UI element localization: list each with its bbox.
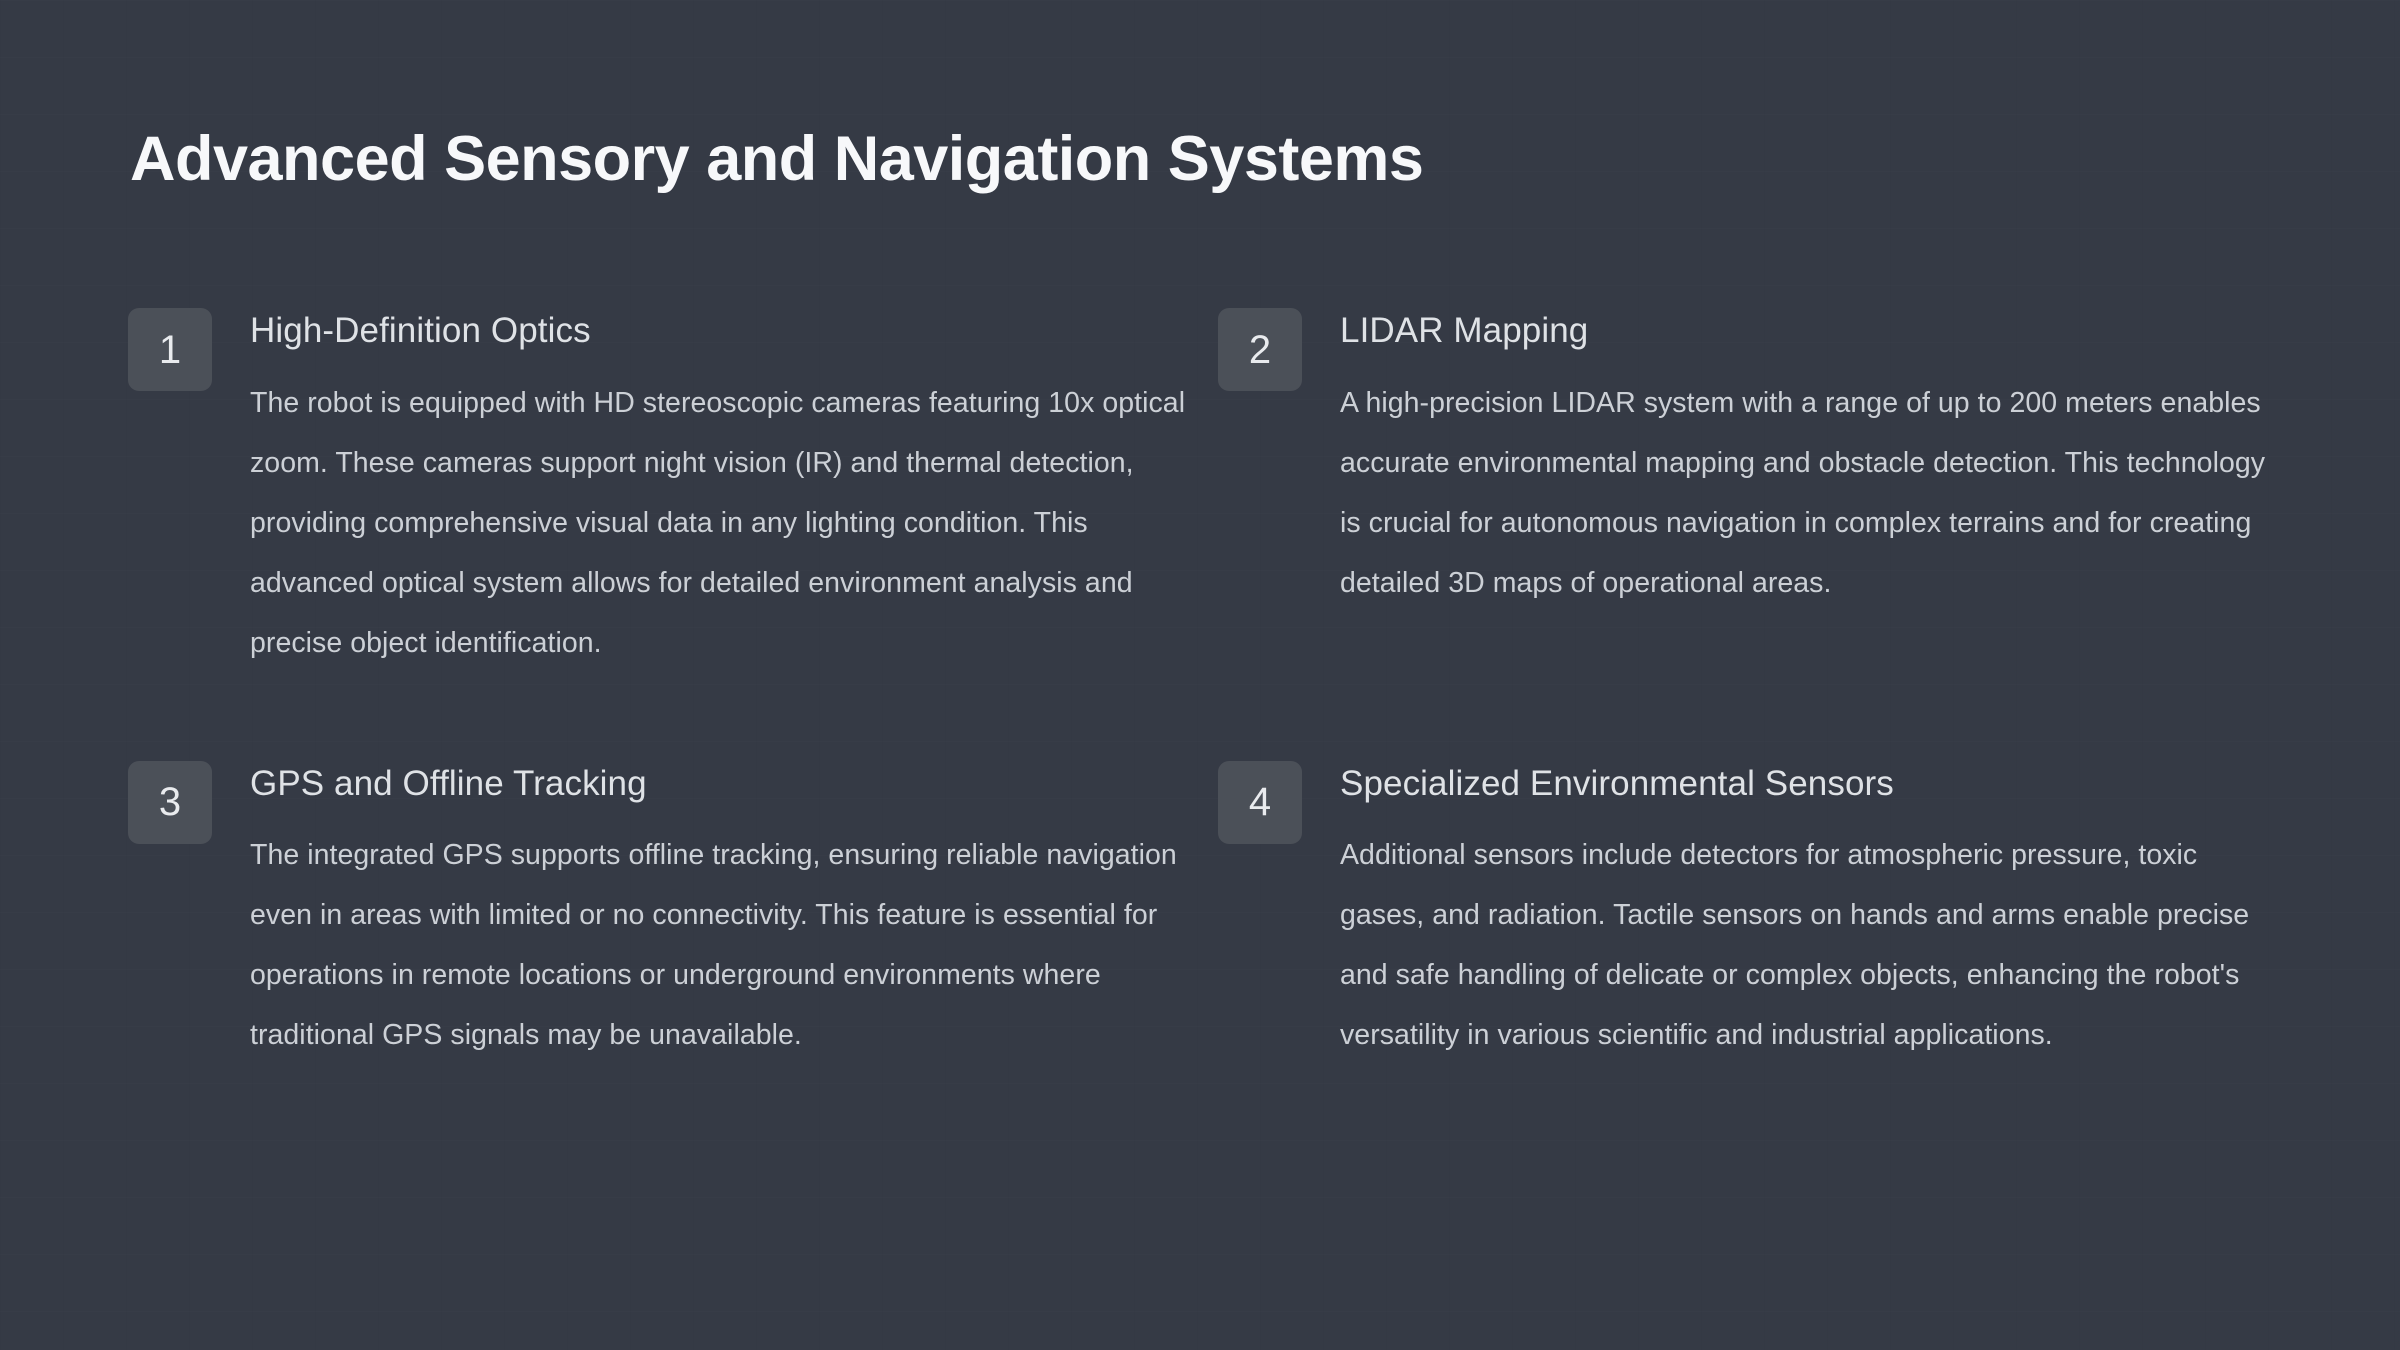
feature-number-badge: 2 [1218,308,1302,391]
feature-body: High-Definition Optics The robot is equi… [250,308,1188,673]
feature-title: GPS and Offline Tracking [250,763,1188,806]
slide-page: Advanced Sensory and Navigation Systems … [0,0,2400,1350]
feature-item-1: 1 High-Definition Optics The robot is eq… [128,308,1188,673]
feature-item-4: 4 Specialized Environmental Sensors Addi… [1218,761,2278,1066]
feature-description: The integrated GPS supports offline trac… [250,825,1188,1065]
feature-description: Additional sensors include detectors for… [1340,825,2278,1065]
feature-item-3: 3 GPS and Offline Tracking The integrate… [128,761,1188,1066]
feature-body: LIDAR Mapping A high-precision LIDAR sys… [1340,308,2278,613]
feature-body: Specialized Environmental Sensors Additi… [1340,761,2278,1066]
feature-number-badge: 1 [128,308,212,391]
feature-title: High-Definition Optics [250,310,1188,353]
feature-number-badge: 3 [128,761,212,844]
row-spacer [128,673,2278,761]
feature-description: A high-precision LIDAR system with a ran… [1340,373,2278,613]
page-title: Advanced Sensory and Navigation Systems [130,124,1423,195]
feature-item-2: 2 LIDAR Mapping A high-precision LIDAR s… [1218,308,2278,673]
feature-grid: 1 High-Definition Optics The robot is eq… [128,308,2288,1065]
feature-title: Specialized Environmental Sensors [1340,763,2278,806]
feature-description: The robot is equipped with HD stereoscop… [250,373,1188,673]
feature-number-badge: 4 [1218,761,1302,844]
feature-body: GPS and Offline Tracking The integrated … [250,761,1188,1066]
feature-title: LIDAR Mapping [1340,310,2278,353]
